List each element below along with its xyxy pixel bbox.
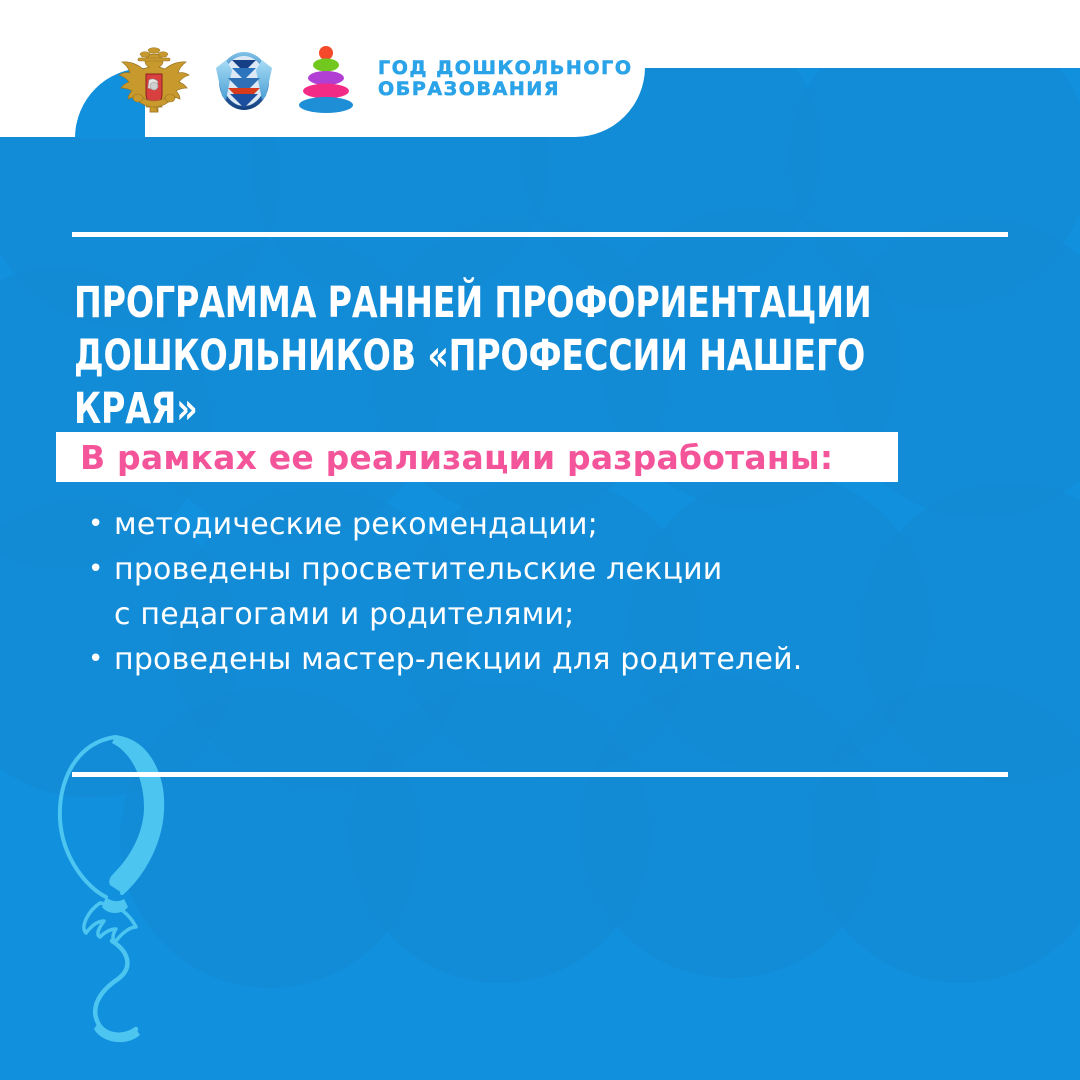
logo-row: ГОД ДОШКОЛЬНОГО ОБРАЗОВАНИЯ: [118, 44, 633, 114]
russia-coat-of-arms-icon: [118, 44, 190, 114]
poster-canvas: ГОД ДОШКОЛЬНОГО ОБРАЗОВАНИЯ ПРОГРАММА РА…: [0, 0, 1080, 1080]
list-item: • проведены просветительские лекции с пе…: [88, 547, 988, 637]
subtitle-banner-text: В рамках ее реализации разработаны:: [80, 438, 833, 477]
divider-top: [72, 232, 1008, 237]
list-item: • методические рекомендации;: [88, 502, 988, 547]
list-item-text: методические рекомендации;: [114, 502, 988, 547]
ministry-of-education-emblem-icon: [208, 44, 280, 114]
divider-bottom: [72, 772, 1008, 777]
balloon-highlight: [109, 737, 162, 893]
bullet-marker-icon: •: [88, 502, 114, 547]
list-item: • проведены мастер-лекции для родителей.: [88, 637, 988, 682]
list-item-text: проведены мастер-лекции для родителей.: [114, 637, 988, 682]
subtitle-banner: В рамках ее реализации разработаны:: [56, 432, 898, 482]
page-title: ПРОГРАММА РАННЕЙ ПРОФОРИЕНТАЦИИ ДОШКОЛЬН…: [74, 277, 882, 436]
balloon-icon: [52, 735, 232, 1045]
campaign-title: ГОД ДОШКОЛЬНОГО ОБРАЗОВАНИЯ: [378, 58, 633, 100]
preschool-year-pyramid-icon: [298, 45, 354, 113]
bullet-marker-icon: •: [88, 547, 114, 592]
bullet-list: • методические рекомендации; • проведены…: [88, 502, 988, 682]
bullet-marker-icon: •: [88, 637, 114, 682]
list-item-text: проведены просветительские лекции с педа…: [114, 547, 988, 637]
